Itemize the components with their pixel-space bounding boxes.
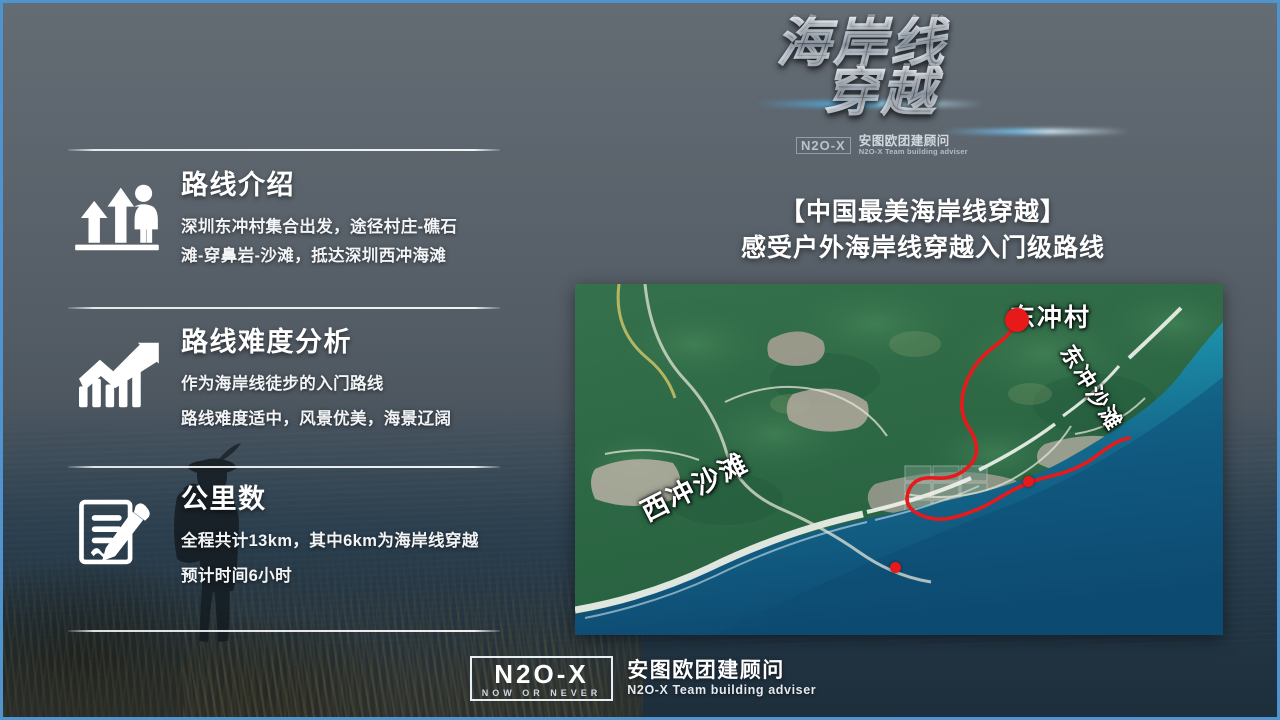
feature-description: 全程共计13km，其中6km为海岸线穿越 预计时间6小时 [181, 528, 533, 590]
person-growth-arrows-icon [71, 177, 163, 259]
headline-line-1: 【中国最美海岸线穿越】 [563, 195, 1280, 231]
footer-brand-zh: 安图欧团建顾问 [627, 659, 816, 683]
logo-line-2: 穿越 [758, 66, 1098, 119]
logo-light-streak-lower [940, 129, 1130, 134]
feature-distance: 公里数 全程共计13km，其中6km为海岸线穿越 预计时间6小时 [63, 485, 533, 590]
feature-difficulty-analysis: 路线难度分析 作为海岸线徒步的入门路线 路线难度适中，风景优美，海景辽阔 [63, 328, 533, 433]
presentation-slide: 路线介绍 深圳东冲村集合出发，途径村庄-礁石 滩-穿鼻岩-沙滩，抵达深圳西冲海滩 [0, 0, 1280, 720]
feature-description: 作为海岸线徒步的入门路线 路线难度适中，风景优美，海景辽阔 [181, 371, 533, 433]
route-map[interactable]: 东冲村 东冲沙滩 西冲沙滩 [575, 284, 1223, 635]
route-start-marker[interactable] [1005, 308, 1029, 332]
feature-description-line: 预计时间6小时 [181, 563, 533, 590]
logo-brand-text: 安图欧团建顾问 N2O-X Team building adviser [859, 135, 968, 156]
footer-logo-tagline: NOW OR NEVER [482, 689, 602, 698]
logo-brand-en: N2O-X Team building adviser [859, 148, 968, 156]
divider-line-third [68, 466, 500, 468]
headline-block: 【中国最美海岸线穿越】 感受户外海岸线穿越入门级路线 [563, 195, 1280, 266]
feature-body: 公里数 全程共计13km，其中6km为海岸线穿越 预计时间6小时 [181, 485, 533, 590]
right-content-column: 海岸线 穿越 N2O-X 安图欧团建顾问 N2O-X Team building… [563, 3, 1280, 720]
feature-body: 路线难度分析 作为海岸线徒步的入门路线 路线难度适中，风景优美，海景辽阔 [181, 328, 533, 433]
footer-brand-en: N2O-X Team building adviser [627, 683, 816, 697]
feature-route-intro: 路线介绍 深圳东冲村集合出发，途径村庄-礁石 滩-穿鼻岩-沙滩，抵达深圳西冲海滩 [63, 171, 533, 270]
title-logo: 海岸线 穿越 N2O-X 安图欧团建顾问 N2O-X Team building… [758, 17, 1098, 157]
feature-description-line: 全程共计13km，其中6km为海岸线穿越 [181, 528, 533, 555]
growth-chart-arrow-icon [71, 334, 163, 416]
route-end-marker[interactable] [890, 562, 901, 573]
feature-description-line: 路线难度适中，风景优美，海景辽阔 [181, 406, 533, 433]
footer-brand-lockup: N2O-X NOW OR NEVER 安图欧团建顾问 N2O-X Team bu… [3, 656, 1280, 701]
map-satellite-image [575, 284, 1223, 635]
left-content-column: 路线介绍 深圳东冲村集合出发，途径村庄-礁石 滩-穿鼻岩-沙滩，抵达深圳西冲海滩 [3, 3, 563, 720]
logo-brand-lockup: N2O-X 安图欧团建顾问 N2O-X Team building advise… [796, 135, 968, 156]
headline-line-2: 感受户外海岸线穿越入门级路线 [563, 231, 1280, 267]
feature-title: 路线难度分析 [181, 328, 533, 358]
footer-logo-text: N2O-X [482, 661, 602, 687]
footer-logo-mark: N2O-X NOW OR NEVER [470, 656, 614, 701]
document-pencil-icon [71, 491, 163, 573]
feature-title: 公里数 [181, 485, 533, 515]
feature-description-line: 作为海岸线徒步的入门路线 [181, 371, 533, 398]
feature-description: 深圳东冲村集合出发，途径村庄-礁石 滩-穿鼻岩-沙滩，抵达深圳西冲海滩 [181, 214, 533, 270]
route-waypoint-marker[interactable] [1023, 476, 1034, 487]
divider-line-bottom [68, 630, 500, 632]
feature-title: 路线介绍 [181, 171, 533, 201]
footer-brand-text: 安图欧团建顾问 N2O-X Team building adviser [627, 659, 816, 698]
divider-line-top [68, 149, 500, 151]
feature-description-line: 滩-穿鼻岩-沙滩，抵达深圳西冲海滩 [181, 243, 533, 270]
logo-mark: N2O-X [796, 137, 851, 154]
feature-description-line: 深圳东冲村集合出发，途径村庄-礁石 [181, 214, 533, 241]
feature-body: 路线介绍 深圳东冲村集合出发，途径村庄-礁石 滩-穿鼻岩-沙滩，抵达深圳西冲海滩 [181, 171, 533, 270]
divider-line-second [68, 307, 500, 309]
